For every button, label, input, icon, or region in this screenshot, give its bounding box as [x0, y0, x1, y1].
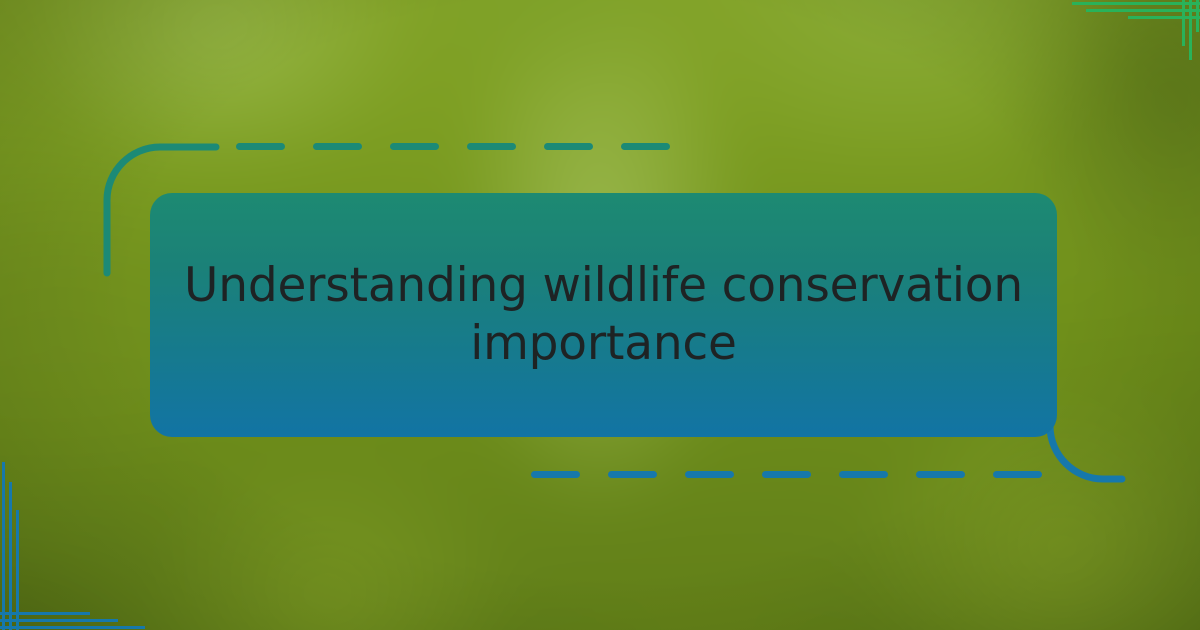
bottom-dash-3 [762, 471, 811, 478]
bottom-dash-2 [685, 471, 734, 478]
bottom-dash-1 [608, 471, 657, 478]
top-dash-2 [390, 143, 439, 150]
top-dashed-rule [0, 143, 1200, 150]
bottom-dash-5 [916, 471, 965, 478]
bottom-dash-0 [531, 471, 580, 478]
page-title: Understanding wildlife conservation impo… [176, 257, 1031, 373]
top-dash-4 [544, 143, 593, 150]
top-dash-1 [313, 143, 362, 150]
bottom-dash-4 [839, 471, 888, 478]
bottom-dashed-rule [0, 471, 1200, 478]
promo-banner: Understanding wildlife conservation impo… [0, 0, 1200, 630]
top-dash-3 [467, 143, 516, 150]
top-dash-5 [621, 143, 670, 150]
top-dash-0 [236, 143, 285, 150]
bottom-dash-6 [993, 471, 1042, 478]
title-card: Understanding wildlife conservation impo… [150, 193, 1057, 437]
